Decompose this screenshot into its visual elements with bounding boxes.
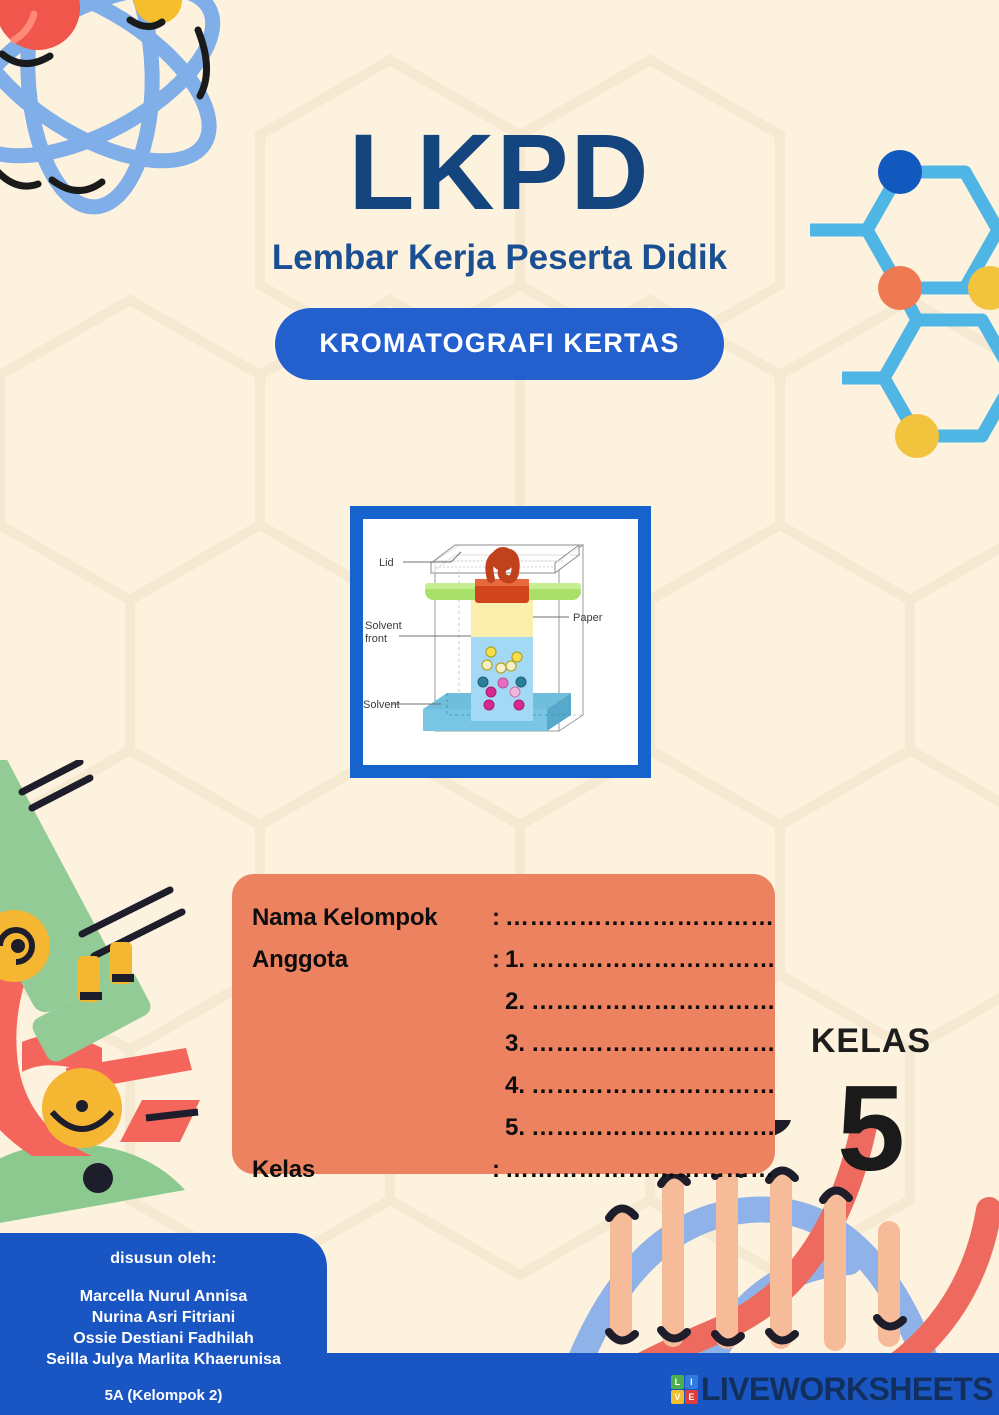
kelas-number: 5 bbox=[791, 1067, 951, 1189]
input-anggota-5[interactable]: ……………………………. bbox=[531, 1114, 775, 1142]
kelas-label: KELAS bbox=[791, 1022, 951, 1061]
authors-group: 5A (Kelompok 2) bbox=[0, 1387, 327, 1404]
microscope-illustration bbox=[0, 760, 270, 1230]
figure-label-lid: Lid bbox=[379, 557, 394, 569]
input-nama-kelompok[interactable]: ………………………………. bbox=[505, 904, 775, 932]
member-number-4: 4. bbox=[505, 1072, 525, 1100]
figure-label-solvent-front-2: front bbox=[365, 633, 387, 645]
label-kelas: Kelas bbox=[252, 1156, 492, 1184]
field-row-anggota-4: : 4. ……………………………. bbox=[232, 1072, 775, 1114]
atom-nucleus bbox=[0, 0, 80, 50]
input-anggota-1[interactable]: ……………………………. bbox=[531, 946, 775, 974]
input-anggota-2[interactable]: ……………………………. bbox=[531, 988, 775, 1016]
kelas-badge: KELAS 5 bbox=[791, 1022, 951, 1189]
page-header: LKPD Lembar Kerja Peserta Didik KROMATOG… bbox=[0, 118, 999, 380]
page-subtitle: Lembar Kerja Peserta Didik bbox=[0, 238, 999, 278]
logo-tile-i: I bbox=[685, 1375, 698, 1389]
liveworksheets-logo-icon: L I V E bbox=[671, 1375, 698, 1404]
member-number-1: 1. bbox=[505, 946, 525, 974]
field-row-anggota-1: Anggota : 1. ……………………………. bbox=[232, 946, 775, 988]
figure-label-solvent: Solvent bbox=[363, 699, 400, 711]
member-number-2: 2. bbox=[505, 988, 525, 1016]
microscope-knob bbox=[0, 910, 50, 982]
authors-heading: disusun oleh: bbox=[0, 1250, 327, 1268]
field-row-anggota-5: : 5. ……………………………. bbox=[232, 1114, 775, 1156]
authors-box: disusun oleh: Marcella Nurul Annisa Nuri… bbox=[0, 1233, 327, 1415]
chromatography-figure: Lid Solvent front Solvent Paper bbox=[363, 519, 638, 765]
figure-label-paper: Paper bbox=[573, 612, 603, 624]
microscope-knob bbox=[42, 1068, 122, 1148]
logo-tile-e: E bbox=[685, 1390, 698, 1404]
atom-electron bbox=[134, 0, 182, 24]
input-anggota-3[interactable]: ……………………………. bbox=[531, 1030, 775, 1058]
field-row-anggota-3: : 3. ……………………………. bbox=[232, 1030, 775, 1072]
logo-tile-v: V bbox=[671, 1390, 684, 1404]
chromatography-figure-frame: Lid Solvent front Solvent Paper bbox=[350, 506, 651, 778]
group-identity-card: Nama Kelompok : ………………………………. Anggota : … bbox=[232, 874, 775, 1174]
input-kelas[interactable]: ………………………………. bbox=[505, 1156, 775, 1184]
label-anggota: Anggota bbox=[252, 946, 492, 974]
input-anggota-4[interactable]: ……………………………. bbox=[531, 1072, 775, 1100]
field-row-anggota-2: : 2. ……………………………. bbox=[232, 988, 775, 1030]
colon: : bbox=[492, 1156, 500, 1184]
authors-names: Marcella Nurul Annisa Nurina Asri Fitria… bbox=[0, 1286, 327, 1370]
label-nama-kelompok: Nama Kelompok bbox=[252, 904, 492, 932]
molecule-atom-node bbox=[895, 414, 939, 458]
liveworksheets-wordmark: LIVEWORKSHEETS bbox=[701, 1371, 993, 1408]
figure-label-solvent-front-1: Solvent bbox=[365, 620, 402, 632]
field-row-kelas: Kelas : ………………………………. bbox=[232, 1156, 775, 1198]
liveworksheets-watermark: L I V E LIVEWORKSHEETS bbox=[671, 1369, 993, 1409]
field-row-nama-kelompok: Nama Kelompok : ………………………………. bbox=[232, 904, 775, 946]
member-number-5: 5. bbox=[505, 1114, 525, 1142]
worksheet-cover-page: LKPD Lembar Kerja Peserta Didik KROMATOG… bbox=[0, 0, 999, 1415]
colon: : bbox=[492, 946, 500, 974]
member-number-3: 3. bbox=[505, 1030, 525, 1058]
logo-tile-l: L bbox=[671, 1375, 684, 1389]
page-title: LKPD bbox=[0, 118, 999, 226]
topic-badge: KROMATOGRAFI KERTAS bbox=[275, 308, 723, 380]
colon: : bbox=[492, 904, 500, 932]
